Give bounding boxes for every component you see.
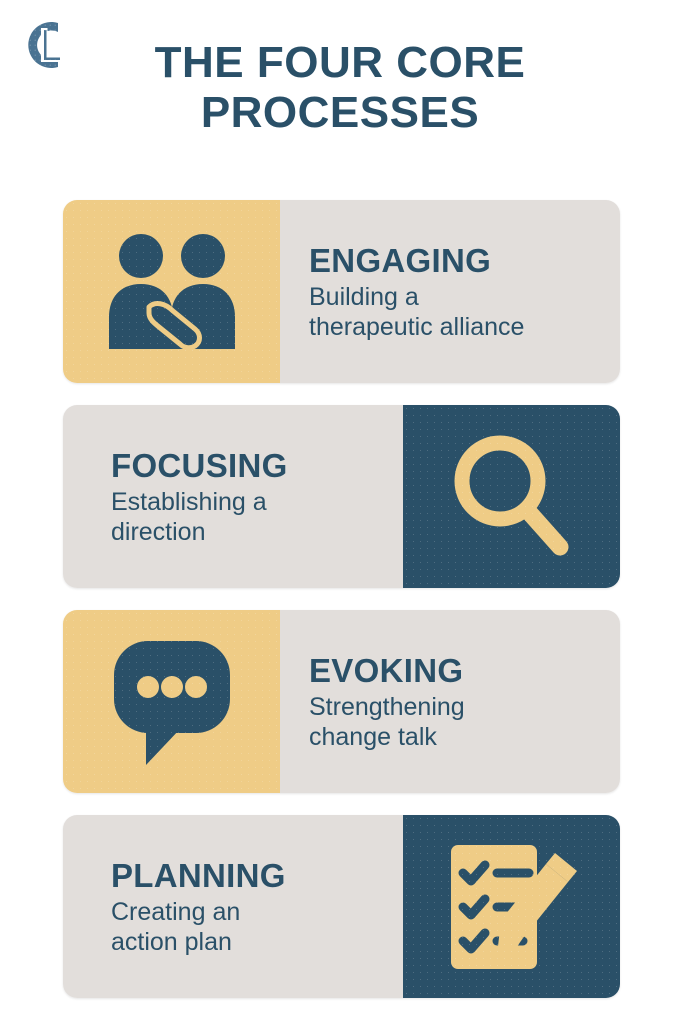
two-people-handshake-icon [97, 229, 247, 354]
card-subtitle-engaging: Building a therapeutic alliance [309, 282, 594, 342]
process-card-focusing[interactable]: FOCUSING Establishing a direction [63, 405, 620, 588]
process-card-engaging[interactable]: ENGAGING Building a therapeutic alliance [63, 200, 620, 383]
card-subtitle-line-2: direction [111, 518, 206, 546]
card-subtitle-line-1: Strengthening [309, 693, 465, 721]
icon-pane-engaging [63, 200, 280, 383]
card-subtitle-line-2: change talk [309, 723, 437, 751]
text-pane-engaging: ENGAGING Building a therapeutic alliance [280, 200, 620, 383]
card-title-engaging: ENGAGING [309, 242, 594, 280]
card-subtitle-evoking: Strengthening change talk [309, 692, 594, 752]
card-subtitle-line-1: Creating an [111, 898, 240, 926]
process-card-list: ENGAGING Building a therapeutic alliance… [63, 200, 620, 998]
page-title: THE FOUR CORE PROCESSES [100, 38, 580, 138]
card-subtitle-focusing: Establishing a direction [111, 487, 383, 547]
clipboard-checklist-pencil-icon [437, 837, 587, 977]
card-subtitle-line-1: Building a [309, 283, 419, 311]
card-subtitle-line-2: therapeutic alliance [309, 313, 524, 341]
page-title-line-2: PROCESSES [100, 88, 580, 138]
brand-logo [14, 14, 76, 76]
card-subtitle-planning: Creating an action plan [111, 897, 383, 957]
card-title-planning: PLANNING [111, 857, 383, 895]
speech-bubble-icon [102, 633, 242, 771]
card-subtitle-line-2: action plan [111, 928, 232, 956]
icon-pane-focusing [403, 405, 620, 588]
text-pane-planning: PLANNING Creating an action plan [63, 815, 403, 998]
card-subtitle-line-1: Establishing a [111, 488, 267, 516]
icon-pane-planning [403, 815, 620, 998]
process-card-evoking[interactable]: EVOKING Strengthening change talk [63, 610, 620, 793]
card-title-focusing: FOCUSING [111, 447, 383, 485]
page-title-line-1: THE FOUR CORE [155, 38, 526, 87]
icon-pane-evoking [63, 610, 280, 793]
card-title-evoking: EVOKING [309, 652, 594, 690]
text-pane-focusing: FOCUSING Establishing a direction [63, 405, 403, 588]
text-pane-evoking: EVOKING Strengthening change talk [280, 610, 620, 793]
magnifying-glass-icon [442, 427, 582, 567]
cl-monogram-icon [28, 22, 62, 68]
process-card-planning[interactable]: PLANNING Creating an action plan [63, 815, 620, 998]
